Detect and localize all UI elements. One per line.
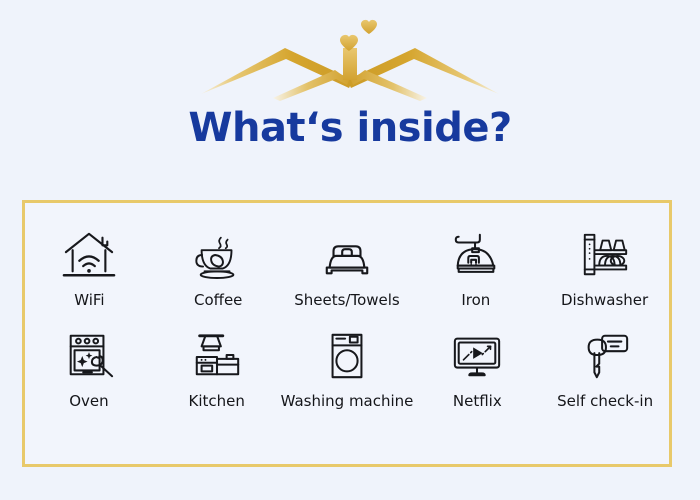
- amenity-label: Kitchen: [189, 394, 245, 409]
- amenity-item-netflix[interactable]: Netflix: [413, 330, 541, 409]
- amenity-label: Self check-in: [557, 394, 653, 409]
- amenity-item-iron[interactable]: Iron: [411, 229, 540, 308]
- amenity-label: WiFi: [74, 293, 104, 308]
- amenity-label: Dishwasher: [561, 293, 648, 308]
- logo-heart-upper: [361, 20, 377, 34]
- amenity-item-wifi[interactable]: WiFi: [25, 229, 154, 308]
- clothes-iron-icon: [447, 229, 505, 281]
- tv-play-icon: [448, 330, 506, 382]
- amenity-label: Washing machine: [281, 394, 414, 409]
- amenity-label: Sheets/Towels: [294, 293, 400, 308]
- header: What‘s inside?: [0, 0, 700, 148]
- amenity-label: Coffee: [194, 293, 242, 308]
- bed-icon: [318, 229, 376, 281]
- logo-roof-inner-left: [273, 70, 349, 101]
- oven-sparkle-icon: [60, 330, 118, 382]
- amenity-row: Oven Kitchen: [25, 308, 669, 409]
- amenity-item-dishwasher[interactable]: Dishwasher: [540, 229, 669, 308]
- amenity-row: WiFi Coffee Sheets/Towels: [25, 203, 669, 308]
- amenity-label: Iron: [461, 293, 490, 308]
- amenity-label: Oven: [69, 394, 108, 409]
- amenity-item-kitchen[interactable]: Kitchen: [153, 330, 281, 409]
- kitchen-counter-hood-icon: [188, 330, 246, 382]
- amenity-item-oven[interactable]: Oven: [25, 330, 153, 409]
- mountain-roof-hearts-logo: [185, 18, 515, 106]
- washing-machine-icon: [318, 330, 376, 382]
- logo-roof-inner-right: [351, 70, 427, 101]
- page-title: What‘s inside?: [0, 108, 700, 148]
- house-wifi-icon: [60, 229, 118, 281]
- dish-rack-icon: [576, 229, 634, 281]
- logo-roof-right: [347, 48, 499, 94]
- logo-figure-stem: [343, 48, 357, 80]
- amenities-panel: WiFi Coffee Sheets/Towels: [22, 200, 672, 467]
- amenity-item-washing-machine[interactable]: Washing machine: [281, 330, 414, 409]
- logo-roof-left: [201, 48, 353, 94]
- amenity-item-self-check-in[interactable]: Self check-in: [541, 330, 669, 409]
- coffee-cup-icon: [189, 229, 247, 281]
- key-tag-icon: [576, 330, 634, 382]
- amenity-item-sheets-towels[interactable]: Sheets/Towels: [283, 229, 412, 308]
- amenity-item-coffee[interactable]: Coffee: [154, 229, 283, 308]
- amenity-label: Netflix: [453, 394, 502, 409]
